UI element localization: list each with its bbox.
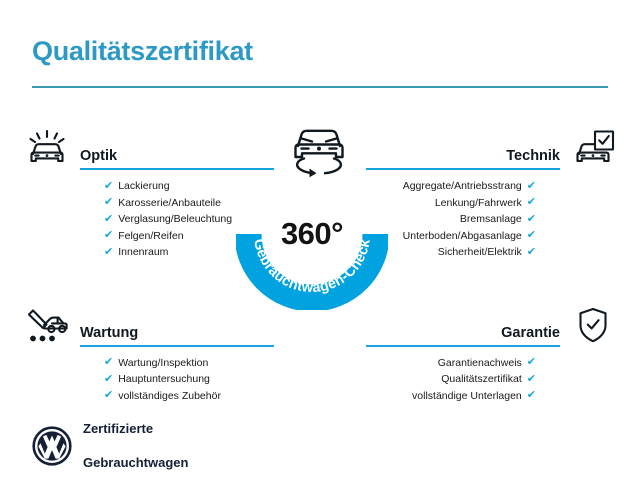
header-divider — [32, 86, 608, 88]
list-item-label: Bremsanlage — [460, 211, 522, 228]
list-item: Qualitätszertifikat✔ — [366, 371, 536, 388]
section-wartung: Wartung ✔Wartung/Inspektion ✔Hauptunters… — [24, 305, 274, 405]
section-garantie-list: Garantienachweis✔ Qualitätszertifikat✔ v… — [366, 355, 616, 405]
list-item: vollständige Unterlagen✔ — [366, 388, 536, 405]
footer-brand-text: Zertifizierte Gebrauchtwagen — [83, 403, 188, 488]
list-item-label: Lenkung/Fahrwerk — [435, 195, 522, 212]
list-item: ✔Wartung/Inspektion — [104, 355, 274, 372]
list-item-label: Karosserie/Anbauteile — [118, 195, 221, 212]
list-item: ✔Hauptuntersuchung — [104, 371, 274, 388]
check-icon: ✔ — [104, 390, 113, 401]
check-icon: ✔ — [104, 197, 113, 208]
car-wrench-service-icon — [24, 305, 70, 345]
list-item-label: Hauptuntersuchung — [118, 371, 210, 388]
footer-brand: Zertifizierte Gebrauchtwagen — [32, 403, 188, 488]
check-icon: ✔ — [527, 374, 536, 385]
check-icon: ✔ — [527, 247, 536, 258]
check-icon: ✔ — [527, 197, 536, 208]
section-garantie-header: Garantie — [366, 305, 616, 345]
list-item-label: Unterboden/Abgasanlage — [403, 228, 522, 245]
list-item-label: Felgen/Reifen — [118, 228, 183, 245]
list-item-label: Garantienachweis — [438, 355, 522, 372]
section-optik-title: Optik — [80, 148, 117, 164]
check-icon: ✔ — [527, 390, 536, 401]
check-icon: ✔ — [527, 230, 536, 241]
volkswagen-logo — [32, 426, 72, 466]
list-item: Garantienachweis✔ — [366, 355, 536, 372]
section-wartung-list: ✔Wartung/Inspektion ✔Hauptuntersuchung ✔… — [24, 355, 274, 405]
check-icon: ✔ — [527, 181, 536, 192]
section-technik-title: Technik — [506, 148, 560, 164]
badge-360-gebrauchtwagen-check: Gebrauchtwagen-Check 360° — [236, 122, 404, 310]
check-icon: ✔ — [527, 214, 536, 225]
section-wartung-header: Wartung — [24, 305, 274, 345]
certificate-page: Qualitätszertifikat — [0, 0, 640, 480]
footer-brand-line1: Zertifizierte — [83, 420, 188, 437]
section-garantie-divider — [366, 345, 560, 347]
section-wartung-divider — [80, 345, 274, 347]
list-item-label: Lackierung — [118, 178, 169, 195]
check-icon: ✔ — [527, 357, 536, 368]
check-icon: ✔ — [104, 181, 113, 192]
check-icon: ✔ — [104, 214, 113, 225]
list-item: ✔vollständiges Zubehör — [104, 388, 274, 405]
list-item-label: Qualitätszertifikat — [441, 371, 522, 388]
car-checkbox-icon — [570, 128, 616, 168]
shield-check-icon — [570, 305, 616, 345]
list-item-label: Aggregate/Antriebsstrang — [403, 178, 522, 195]
list-item-label: Innenraum — [118, 244, 168, 261]
section-garantie: Garantie Garantienachweis✔ Qualitätszert… — [366, 305, 616, 405]
list-item-label: Wartung/Inspektion — [118, 355, 208, 372]
list-item-label: vollständige Unterlagen — [412, 388, 522, 405]
car-shine-icon — [24, 128, 70, 168]
check-icon: ✔ — [104, 230, 113, 241]
footer-brand-line2: Gebrauchtwagen — [83, 454, 188, 471]
section-garantie-title: Garantie — [501, 325, 560, 341]
list-item-label: Sicherheit/Elektrik — [438, 244, 522, 261]
list-item-label: Verglasung/Beleuchtung — [118, 211, 232, 228]
check-icon: ✔ — [104, 247, 113, 258]
list-item-label: vollständiges Zubehör — [118, 388, 221, 405]
car-360-rotation-icon — [282, 122, 356, 184]
check-icon: ✔ — [104, 374, 113, 385]
section-wartung-title: Wartung — [80, 325, 138, 341]
page-title: Qualitätszertifikat — [32, 36, 253, 67]
check-icon: ✔ — [104, 357, 113, 368]
